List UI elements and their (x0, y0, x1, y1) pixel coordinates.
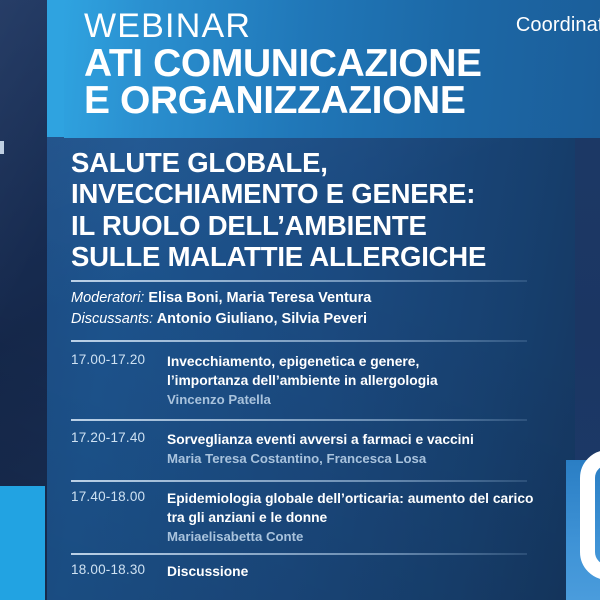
rounded-letter-c-logo-icon (580, 450, 600, 580)
left-edge-speck (0, 141, 4, 154)
divider-schedule-2 (71, 480, 527, 482)
session-title-line-4: SULLE MALATTIE ALLERGICHE (71, 241, 571, 272)
schedule-title-line-1: Invecchiamento, epigenetica e genere, (167, 352, 541, 371)
moderators-names: Elisa Boni, Maria Teresa Ventura (144, 290, 371, 306)
header-title-line-2: E ORGANIZZAZIONE (84, 82, 600, 119)
divider-below-moderators (71, 340, 527, 342)
coordinators-label: Coordinatori (516, 14, 600, 37)
schedule-title-line-2: l’importanza dell’ambiente in allergolog… (167, 371, 541, 390)
schedule-row: 18.00-18.30 Discussione (71, 562, 541, 581)
moderators-label: Moderatori: (71, 290, 144, 306)
cyan-accent-bar-top (47, 0, 64, 137)
schedule-row: 17.20-17.40 Sorveglianza eventi avversi … (71, 430, 541, 468)
session-title-line-1: SALUTE GLOBALE, (71, 147, 571, 178)
session-title: SALUTE GLOBALE, INVECCHIAMENTO E GENERE:… (71, 147, 571, 272)
schedule-title-line-2: tra gli anziani e le donne (167, 508, 541, 527)
session-title-line-2: INVECCHIAMENTO E GENERE: (71, 178, 571, 209)
schedule-time: 17.00-17.20 (71, 352, 167, 367)
schedule-title-line-1: Discussione (167, 562, 541, 581)
moderators-block: Moderatori: Elisa Boni, Maria Teresa Ven… (71, 288, 371, 329)
discussants-line: Discussants: Antonio Giuliano, Silvia Pe… (71, 309, 371, 330)
schedule-title-line-1: Sorveglianza eventi avversi a farmaci e … (167, 430, 541, 449)
schedule-time: 17.20-17.40 (71, 430, 167, 445)
schedule-time: 18.00-18.30 (71, 562, 167, 577)
schedule-body: Epidemiologia globale dell’orticaria: au… (167, 489, 541, 546)
schedule-speakers: Vincenzo Patella (167, 391, 541, 409)
header-title: ATI COMUNICAZIONE E ORGANIZZAZIONE (84, 45, 600, 120)
header-eyebrow: WEBINAR (84, 9, 251, 43)
schedule-speakers: Maria Teresa Costantino, Francesca Losa (167, 450, 541, 468)
moderators-line: Moderatori: Elisa Boni, Maria Teresa Ven… (71, 288, 371, 309)
schedule-row: 17.00-17.20 Invecchiamento, epigenetica … (71, 352, 541, 409)
schedule-time: 17.40-18.00 (71, 489, 167, 504)
webinar-poster: WEBINAR Coordinatori ATI COMUNICAZIONE E… (0, 0, 600, 600)
divider-schedule-1 (71, 419, 527, 421)
discussants-label: Discussants: (71, 311, 153, 327)
cyan-accent-block-bottom (0, 486, 45, 600)
schedule-row: 17.40-18.00 Epidemiologia globale dell’o… (71, 489, 541, 546)
poster-header: WEBINAR Coordinatori ATI COMUNICAZIONE E… (64, 0, 600, 138)
schedule-speakers: Mariaelisabetta Conte (167, 528, 541, 546)
schedule-body: Sorveglianza eventi avversi a farmaci e … (167, 430, 541, 468)
session-title-line-3: IL RUOLO DELL’AMBIENTE (71, 210, 571, 241)
divider-above-moderators (71, 280, 527, 282)
divider-schedule-3 (71, 553, 527, 555)
schedule-body: Discussione (167, 562, 541, 581)
schedule-title-line-1: Epidemiologia globale dell’orticaria: au… (167, 489, 541, 508)
schedule-body: Invecchiamento, epigenetica e genere, l’… (167, 352, 541, 409)
discussants-names: Antonio Giuliano, Silvia Peveri (153, 311, 367, 327)
